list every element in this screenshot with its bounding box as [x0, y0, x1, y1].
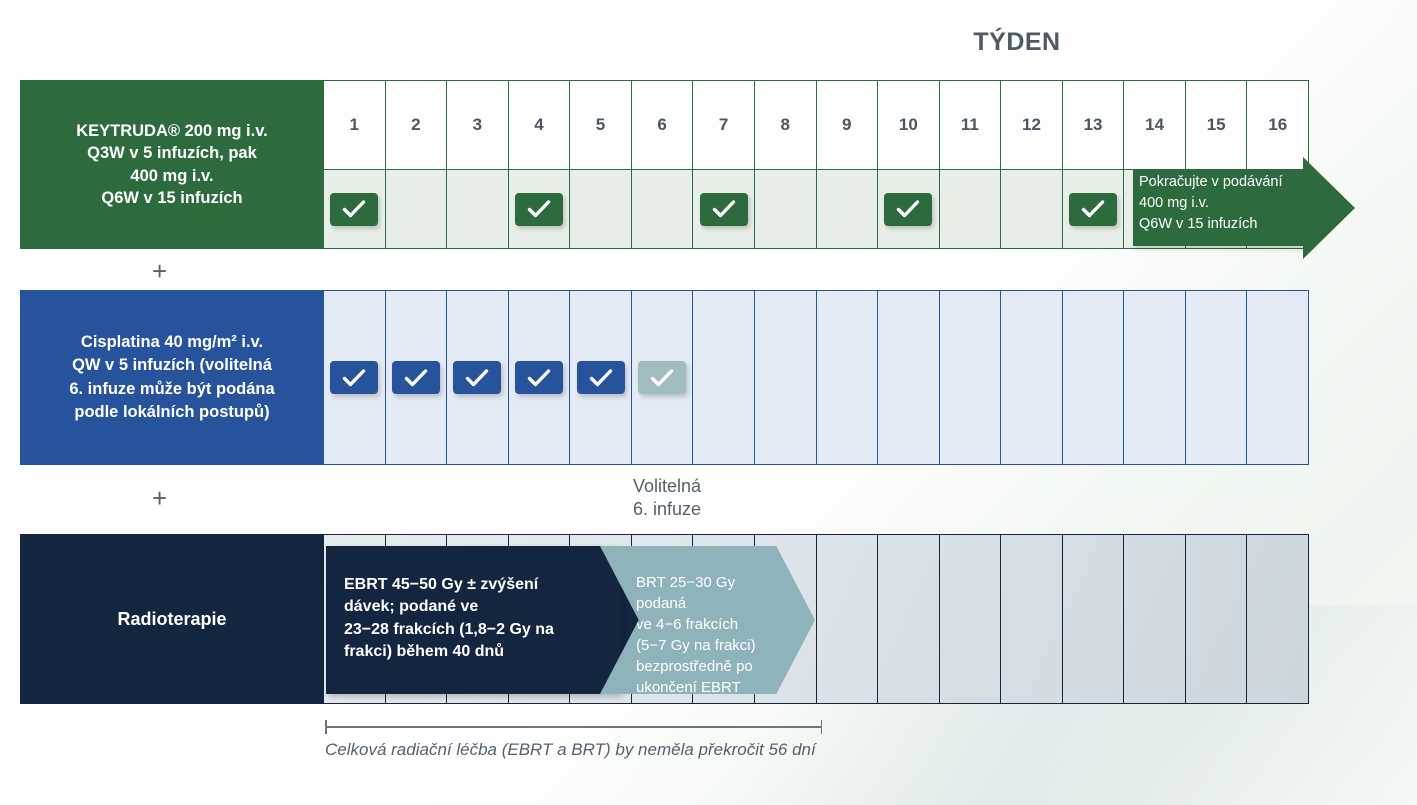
ebrt-line-1: EBRT 45−50 Gy ± zvýšení [344, 576, 538, 593]
cisplatina-week-column [940, 291, 1002, 464]
radioterapie-week-column [1124, 535, 1186, 703]
keytruda-label-line-2: Q3W v 5 infuzích, pak [87, 144, 257, 162]
radioterapie-week-column [1247, 535, 1308, 703]
bracket-cap-right [821, 720, 823, 734]
keytruda-week-column: 4 [509, 81, 571, 248]
radioterapie-week-column [940, 535, 1002, 703]
continuation-line-3: Q6W v 15 infuzích [1139, 216, 1257, 232]
week-number: 1 [324, 81, 385, 169]
cisplatina-week-column [324, 291, 386, 464]
keytruda-week-column: 9 [817, 81, 879, 248]
keytruda-label-line-4: Q6W v 15 infuzích [101, 189, 242, 207]
keytruda-dose-slot [1063, 169, 1124, 248]
check-icon [330, 193, 378, 226]
keytruda-dose-slot [1001, 169, 1062, 248]
check-icon [515, 361, 563, 394]
check-icon [577, 361, 625, 394]
cisplatina-week-column [755, 291, 817, 464]
total-radiation-duration-bracket [325, 720, 822, 734]
cisplatina-week-column [386, 291, 448, 464]
keytruda-week-column: 5 [570, 81, 632, 248]
keytruda-dose-slot [878, 169, 939, 248]
keytruda-dose-slot [632, 169, 693, 248]
cisplatina-week-column [1124, 291, 1186, 464]
week-axis-title: TÝDEN [952, 28, 1082, 57]
week-number: 14 [1124, 81, 1185, 169]
radioterapie-week-column [1186, 535, 1248, 703]
optional-check-icon [638, 361, 686, 394]
cisplatina-week-column [1247, 291, 1308, 464]
check-icon [1069, 193, 1117, 226]
brt-line-5: ukončení EBRT [636, 679, 741, 696]
cisplatina-week-column [447, 291, 509, 464]
cisplatina-label-line-4: podle lokálních postupů) [74, 403, 269, 421]
brt-line-2: ve 4−6 frakcích [636, 616, 738, 633]
ebrt-block: EBRT 45−50 Gy ± zvýšení dávek; podané ve… [326, 546, 621, 694]
cisplatina-week-column [693, 291, 755, 464]
keytruda-week-column: 6 [632, 81, 694, 248]
cisplatina-row: Cisplatina 40 mg/m² i.v. QW v 5 infuzích… [20, 290, 1309, 465]
keytruda-dose-slot [570, 169, 631, 248]
check-icon [330, 361, 378, 394]
cisplatina-week-column [817, 291, 879, 464]
keytruda-dose-slot [447, 169, 508, 248]
week-number: 11 [940, 81, 1001, 169]
check-icon [453, 361, 501, 394]
keytruda-dose-slot [386, 169, 447, 248]
week-number: 15 [1186, 81, 1247, 169]
cisplatina-week-column [1063, 291, 1125, 464]
keytruda-week-column: 7 [693, 81, 755, 248]
cisplatina-label-line-3: 6. infuze může být podána [69, 380, 274, 398]
week-number: 7 [693, 81, 754, 169]
week-number: 5 [570, 81, 631, 169]
keytruda-row: KEYTRUDA® 200 mg i.v. Q3W v 5 infuzích, … [20, 80, 1309, 249]
keytruda-week-column: 1 [324, 81, 386, 248]
plus-connector-1: + [152, 258, 167, 284]
optional-note-line-2: 6. infuze [633, 499, 701, 519]
keytruda-continuation-text: Pokračujte v podávání 400 mg i.v. Q6W v … [1139, 172, 1317, 235]
continuation-line-2: 400 mg i.v. [1139, 195, 1209, 211]
cisplatina-week-column [632, 291, 694, 464]
keytruda-label-line-3: 400 mg i.v. [130, 167, 213, 185]
cisplatina-week-column [1001, 291, 1063, 464]
optional-infusion-note: Volitelná 6. infuze [600, 475, 734, 522]
ebrt-line-3: 23−28 frakcích (1,8−2 Gy na [344, 621, 554, 638]
keytruda-dose-slot [324, 169, 385, 248]
keytruda-dose-slot [509, 169, 570, 248]
check-icon [392, 361, 440, 394]
week-number: 12 [1001, 81, 1062, 169]
ebrt-line-2: dávek; podané ve [344, 598, 478, 615]
week-number: 8 [755, 81, 816, 169]
radioterapie-week-column [817, 535, 879, 703]
keytruda-week-column: 8 [755, 81, 817, 248]
keytruda-dose-slot [755, 169, 816, 248]
brt-line-1: BRT 25−30 Gy podaná [636, 574, 735, 612]
radioterapie-week-column [1001, 535, 1063, 703]
week-number: 2 [386, 81, 447, 169]
week-number: 16 [1247, 81, 1308, 169]
week-number: 6 [632, 81, 693, 169]
brt-line-4: bezprostředně po [636, 658, 753, 675]
keytruda-week-column: 13 [1063, 81, 1125, 248]
keytruda-week-column: 3 [447, 81, 509, 248]
cisplatina-week-grid [324, 290, 1309, 465]
cisplatina-label: Cisplatina 40 mg/m² i.v. QW v 5 infuzích… [20, 290, 324, 465]
bracket-bar [325, 726, 822, 728]
week-number: 10 [878, 81, 939, 169]
cisplatina-week-column [878, 291, 940, 464]
treatment-schedule-diagram: TÝDEN KEYTRUDA® 200 mg i.v. Q3W v 5 infu… [0, 0, 1417, 805]
keytruda-week-column: 10 [878, 81, 940, 248]
keytruda-label-line-1: KEYTRUDA® 200 mg i.v. [76, 122, 268, 140]
radioterapie-label: Radioterapie [20, 534, 324, 704]
plus-connector-2: + [152, 485, 167, 511]
keytruda-week-column: 11 [940, 81, 1002, 248]
week-number: 9 [817, 81, 878, 169]
continuation-line-1: Pokračujte v podávání [1139, 174, 1282, 190]
keytruda-label: KEYTRUDA® 200 mg i.v. Q3W v 5 infuzích, … [20, 80, 324, 249]
keytruda-dose-slot [817, 169, 878, 248]
radiation-footnote: Celková radiační léčba (EBRT a BRT) by n… [325, 740, 816, 760]
cisplatina-label-line-1: Cisplatina 40 mg/m² i.v. [81, 333, 263, 351]
ebrt-line-4: frakci) během 40 dnů [344, 643, 504, 660]
cisplatina-label-line-2: QW v 5 infuzích (volitelná [72, 356, 272, 374]
keytruda-week-column: 2 [386, 81, 448, 248]
week-number: 4 [509, 81, 570, 169]
radioterapie-week-column [878, 535, 940, 703]
week-number: 13 [1063, 81, 1124, 169]
keytruda-dose-slot [940, 169, 1001, 248]
keytruda-week-column: 12 [1001, 81, 1063, 248]
cisplatina-week-column [509, 291, 571, 464]
brt-line-3: (5−7 Gy na frakci) [636, 637, 756, 654]
cisplatina-week-column [570, 291, 632, 464]
check-icon [884, 193, 932, 226]
week-number: 3 [447, 81, 508, 169]
optional-note-line-1: Volitelná [633, 476, 701, 496]
check-icon [515, 193, 563, 226]
keytruda-dose-slot [693, 169, 754, 248]
check-icon [700, 193, 748, 226]
cisplatina-week-column [1186, 291, 1248, 464]
radioterapie-week-column [1063, 535, 1125, 703]
